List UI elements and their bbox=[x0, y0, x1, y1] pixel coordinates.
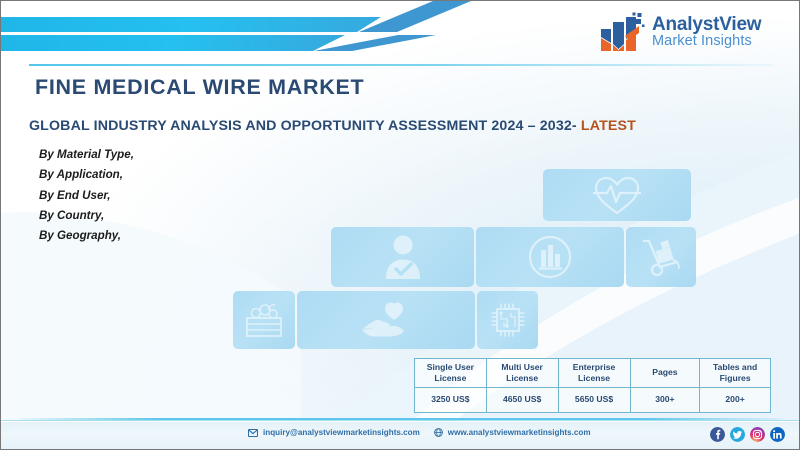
cell-tables-and-figures-count: 200+ bbox=[700, 388, 771, 413]
col-header-single-user-license: Single User License bbox=[415, 359, 487, 388]
subtitle-main: GLOBAL INDUSTRY ANALYSIS AND OPPORTUNITY… bbox=[29, 118, 577, 134]
twitter-icon[interactable] bbox=[730, 427, 745, 442]
globe-icon bbox=[434, 428, 443, 437]
pricing-table: Single User License Multi User License E… bbox=[414, 358, 771, 413]
cell-enterprise-license-price: 5650 US$ bbox=[558, 388, 630, 413]
page-subtitle: GLOBAL INDUSTRY ANALYSIS AND OPPORTUNITY… bbox=[29, 118, 636, 134]
footer-website[interactable]: www.analystviewmarketinsights.com bbox=[448, 428, 591, 437]
envelope-icon bbox=[248, 429, 258, 437]
bar-chart-logo-icon bbox=[599, 11, 645, 53]
col-header-multi-user-license: Multi User License bbox=[486, 359, 558, 388]
list-item: By Country, bbox=[39, 206, 259, 226]
cell-multi-user-license-price: 4650 US$ bbox=[486, 388, 558, 413]
footer-contact-info: inquiry@analystviewmarketinsights.com ww… bbox=[248, 428, 591, 437]
list-item: By Material Type, bbox=[39, 145, 259, 165]
list-item: By Geography, bbox=[39, 226, 259, 246]
instagram-icon[interactable] bbox=[750, 427, 765, 442]
facebook-icon[interactable] bbox=[710, 427, 725, 442]
social-links bbox=[710, 427, 785, 442]
title-divider-rule bbox=[29, 64, 773, 66]
footer-bar: inquiry@analystviewmarketinsights.com ww… bbox=[1, 420, 800, 449]
list-item: By Application, bbox=[39, 165, 259, 185]
table-row: 3250 US$ 4650 US$ 5650 US$ 300+ 200+ bbox=[415, 388, 771, 413]
footer-email[interactable]: inquiry@analystviewmarketinsights.com bbox=[263, 428, 420, 437]
logo-tagline: Market Insights bbox=[652, 34, 761, 49]
logo-name: AnalystView bbox=[652, 15, 761, 35]
col-header-tables-and-figures: Tables and Figures bbox=[700, 359, 771, 388]
list-item: By End User, bbox=[39, 186, 259, 206]
subtitle-highlight: LATEST bbox=[581, 118, 636, 134]
brand-logo: AnalystView Market Insights bbox=[599, 7, 789, 57]
col-header-enterprise-license: Enterprise License bbox=[558, 359, 630, 388]
page-title: FINE MEDICAL WIRE MARKET bbox=[35, 75, 364, 100]
linkedin-icon[interactable] bbox=[770, 427, 785, 442]
table-header-row: Single User License Multi User License E… bbox=[415, 359, 771, 388]
report-cover-slide: AnalystView Market Insights FINE MEDICAL… bbox=[0, 0, 800, 450]
segment-list: By Material Type, By Application, By End… bbox=[39, 145, 259, 246]
footer-accent-line bbox=[19, 418, 783, 420]
cell-single-user-license-price: 3250 US$ bbox=[415, 388, 487, 413]
cell-pages-count: 300+ bbox=[630, 388, 700, 413]
col-header-pages: Pages bbox=[630, 359, 700, 388]
